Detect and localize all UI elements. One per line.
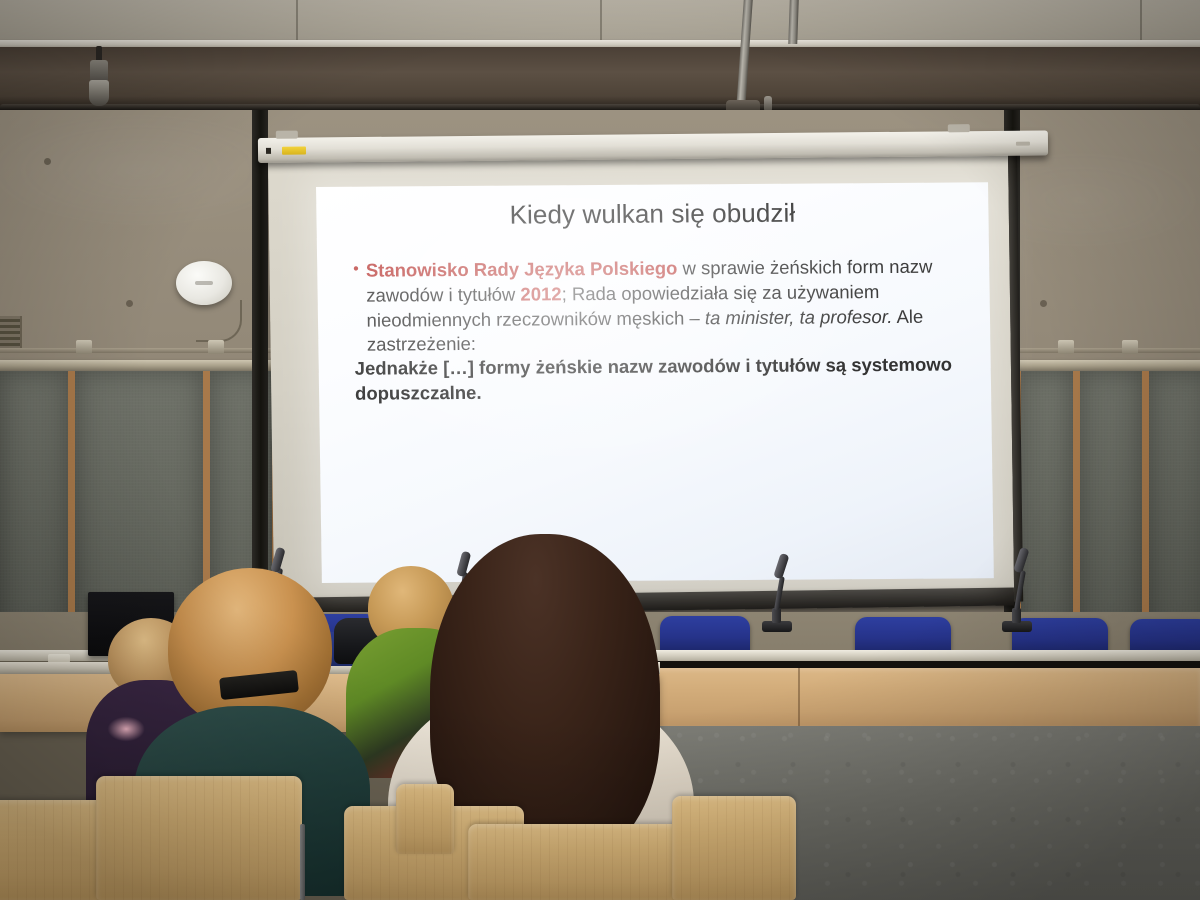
slide-quote: Jednakże […] formy żeńskie nazw zawodów … (355, 353, 968, 407)
conduit-box (208, 340, 224, 354)
conduit-box (1122, 340, 1138, 354)
wall-anchor (126, 300, 133, 307)
spotlight-icon (86, 46, 112, 108)
screen-pilaster-left (252, 110, 268, 630)
bullet-highlight: Stanowisko Rady Języka Polskiego (366, 257, 678, 280)
lecture-chair[interactable] (660, 616, 750, 654)
slide-body: • Stanowisko Rady Języka Polskiego w spr… (353, 254, 967, 406)
front-desk-panel (650, 668, 1200, 726)
conduit-box (1058, 340, 1074, 354)
casing-slot (1016, 142, 1030, 146)
slide-title: Kiedy wulkan się obudził (316, 196, 988, 232)
seat-back[interactable] (396, 784, 454, 854)
wifi-cable (196, 300, 242, 342)
bullet-italic: ta minister, ta profesor. (705, 306, 893, 328)
wall-vent (0, 316, 22, 350)
lecture-hall-photo: Kiedy wulkan się obudził • Stanowisko Ra… (0, 0, 1200, 900)
bullet-year: 2012 (520, 283, 561, 304)
conduit-box (76, 340, 92, 354)
casing-screw (266, 148, 271, 154)
wifi-access-point-icon (176, 261, 232, 305)
seat-back[interactable] (96, 776, 302, 900)
projected-slide: Kiedy wulkan się obudził • Stanowisko Ra… (316, 182, 994, 583)
vertical-pipe-branch (788, 0, 799, 44)
wall-anchor (1040, 300, 1047, 307)
slide-bullet: • Stanowisko Rady Języka Polskiego w spr… (353, 254, 966, 357)
ceiling-recess (0, 47, 1200, 110)
slide-bullet-text: Stanowisko Rady Języka Polskiego w spraw… (366, 254, 967, 357)
seat-leg (300, 824, 305, 900)
bullet-dot-icon: • (353, 259, 359, 280)
casing-label (282, 147, 306, 155)
seat-back[interactable] (672, 796, 796, 900)
wall-anchor (44, 158, 51, 165)
